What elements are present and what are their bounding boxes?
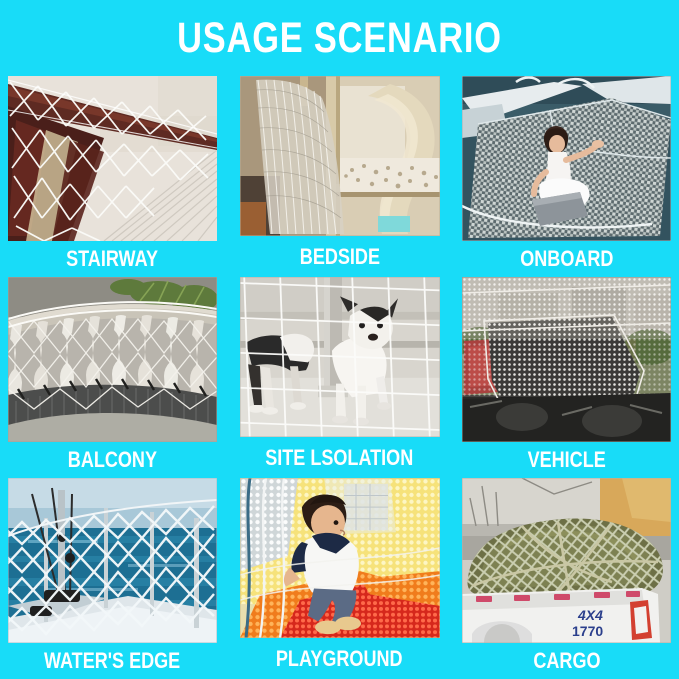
scenario-label-site-isolation: SITE LSOLATION: [265, 446, 413, 470]
scenario-cell-bedside[interactable]: BEDSIDE: [240, 76, 440, 277]
usage-scenario-infographic: USAGE SCENARIO: [0, 0, 679, 679]
scenario-label-bedside: BEDSIDE: [299, 245, 379, 269]
truck-badge-4x4: 4X4: [577, 607, 603, 623]
scenario-label-waters-edge: WATER'S EDGE: [44, 649, 180, 673]
scenario-row-2: BALCONY: [8, 277, 671, 478]
truck-number: 1770: [572, 623, 603, 639]
caption-wrap: WATER'S EDGE: [29, 643, 195, 679]
site-isolation-net-photo: [240, 277, 440, 437]
caption-wrap: SITE LSOLATION: [249, 437, 429, 478]
caption-wrap: BALCONY: [58, 442, 167, 477]
scenario-cell-playground[interactable]: PLAYGROUND: [240, 478, 440, 679]
balcony-safety-net-photo: [8, 277, 217, 442]
scenario-cell-onboard[interactable]: ONBOARD: [462, 76, 671, 277]
playground-net-photo: [240, 478, 440, 638]
caption-wrap: CARGO: [526, 643, 608, 679]
scenario-cell-stairway[interactable]: STAIRWAY: [8, 76, 217, 277]
scenario-label-balcony: BALCONY: [68, 448, 157, 472]
scenario-cell-vehicle[interactable]: VEHICLE: [462, 277, 671, 478]
scenario-row-1: STAIRWAY: [8, 76, 671, 277]
stairway-safety-net-photo: [8, 76, 217, 241]
scenario-cell-balcony[interactable]: BALCONY: [8, 277, 217, 478]
vehicle-cargo-net-photo: [462, 277, 671, 442]
waters-edge-net-photo: [8, 478, 217, 643]
scenario-cell-waters-edge[interactable]: WATER'S EDGE: [8, 478, 217, 679]
scenario-cell-cargo[interactable]: 4X4 1770 CARGO: [462, 478, 671, 679]
caption-wrap: VEHICLE: [519, 442, 614, 477]
scenario-label-cargo: CARGO: [533, 649, 600, 673]
cargo-net-photo: 4X4 1770: [462, 478, 671, 643]
scenario-label-vehicle: VEHICLE: [527, 448, 605, 472]
scenario-grid: STAIRWAY: [0, 76, 679, 679]
scenario-row-3: WATER'S EDGE: [8, 478, 671, 679]
scenario-label-playground: PLAYGROUND: [276, 647, 403, 671]
scenario-label-stairway: STAIRWAY: [67, 247, 159, 271]
caption-wrap: PLAYGROUND: [262, 638, 416, 679]
scenario-label-onboard: ONBOARD: [520, 247, 613, 271]
caption-wrap: BEDSIDE: [291, 236, 389, 277]
caption-wrap: ONBOARD: [510, 241, 624, 277]
page-title: USAGE SCENARIO: [68, 14, 611, 62]
caption-wrap: STAIRWAY: [56, 241, 168, 277]
scenario-cell-site-isolation[interactable]: SITE LSOLATION: [240, 277, 440, 478]
onboard-safety-net-photo: [462, 76, 671, 241]
bedside-safety-net-photo: [240, 76, 440, 236]
